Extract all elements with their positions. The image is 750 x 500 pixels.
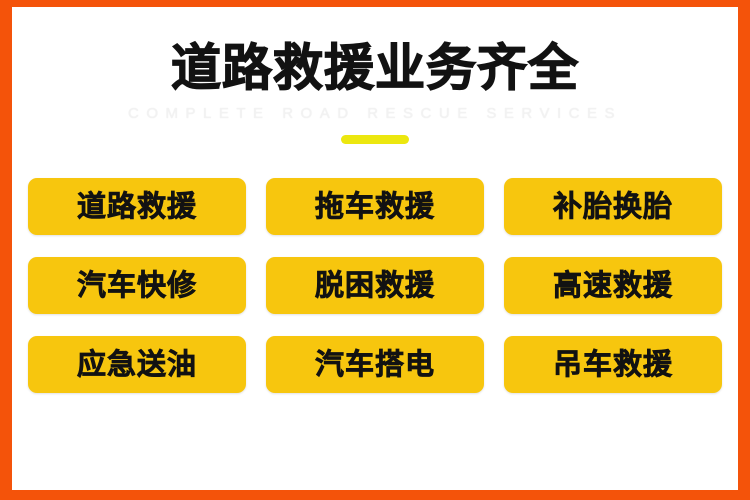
service-chip-quick-car-repair[interactable]: 汽车快修 [28,257,246,314]
service-chip-label: 高速救援 [553,271,673,300]
service-chip-emergency-fuel[interactable]: 应急送油 [28,336,246,393]
service-chip-label: 脱困救援 [315,271,435,300]
service-grid: 道路救援 拖车救援 补胎换胎 汽车快修 脱困救援 高速救援 应急送油 汽车搭电 [28,178,722,393]
poster-canvas: 道路救援业务齐全 COMPLETE ROAD RESCUE SERVICES 道… [12,7,738,490]
service-chip-label: 汽车搭电 [315,350,435,379]
page-subtitle: COMPLETE ROAD RESCUE SERVICES [12,105,738,122]
service-chip-crane-rescue[interactable]: 吊车救援 [504,336,722,393]
service-chip-jump-start[interactable]: 汽车搭电 [266,336,484,393]
service-chip-label: 汽车快修 [77,271,197,300]
poster-frame: 道路救援业务齐全 COMPLETE ROAD RESCUE SERVICES 道… [0,0,750,500]
service-chip-label: 道路救援 [77,192,197,221]
service-chip-label: 拖车救援 [315,192,435,221]
accent-underline [341,135,409,144]
service-chip-label: 应急送油 [77,350,197,379]
service-chip-label: 补胎换胎 [553,192,673,221]
service-chip-road-rescue[interactable]: 道路救援 [28,178,246,235]
service-chip-tire-repair-replace[interactable]: 补胎换胎 [504,178,722,235]
service-chip-highway-rescue[interactable]: 高速救援 [504,257,722,314]
poster-header: 道路救援业务齐全 COMPLETE ROAD RESCUE SERVICES [12,7,738,144]
page-title: 道路救援业务齐全 [12,41,738,95]
service-chip-extrication-rescue[interactable]: 脱困救援 [266,257,484,314]
service-chip-label: 吊车救援 [553,350,673,379]
service-chip-tow-rescue[interactable]: 拖车救援 [266,178,484,235]
